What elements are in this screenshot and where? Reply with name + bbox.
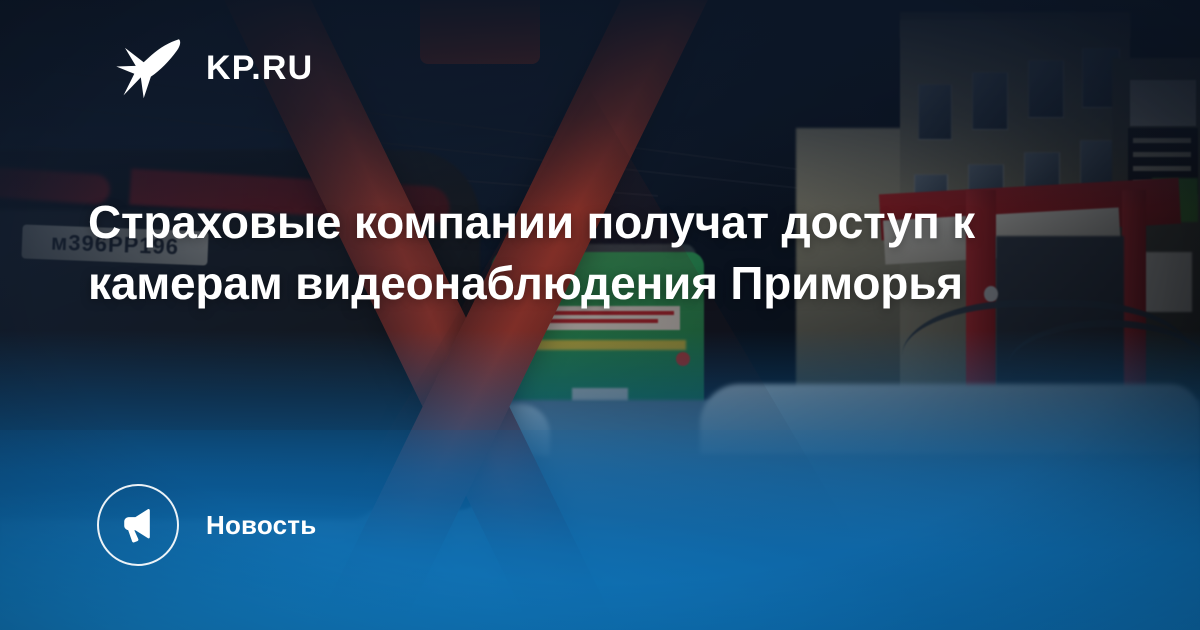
brand-name: KP.RU xyxy=(206,51,313,85)
page-title: Страховые компании получат доступ к каме… xyxy=(88,192,988,314)
card-content: KP.RU Страховые компании получат доступ … xyxy=(0,0,1200,630)
swallow-bird-icon xyxy=(112,32,184,104)
share-card: м396РР196 KP.RU Страховые компании получ… xyxy=(0,0,1200,630)
megaphone-icon xyxy=(97,484,179,566)
status-badge[interactable]: Новость xyxy=(97,484,316,566)
status-badge-label: Новость xyxy=(206,512,316,538)
brand-lockup[interactable]: KP.RU xyxy=(112,32,313,104)
